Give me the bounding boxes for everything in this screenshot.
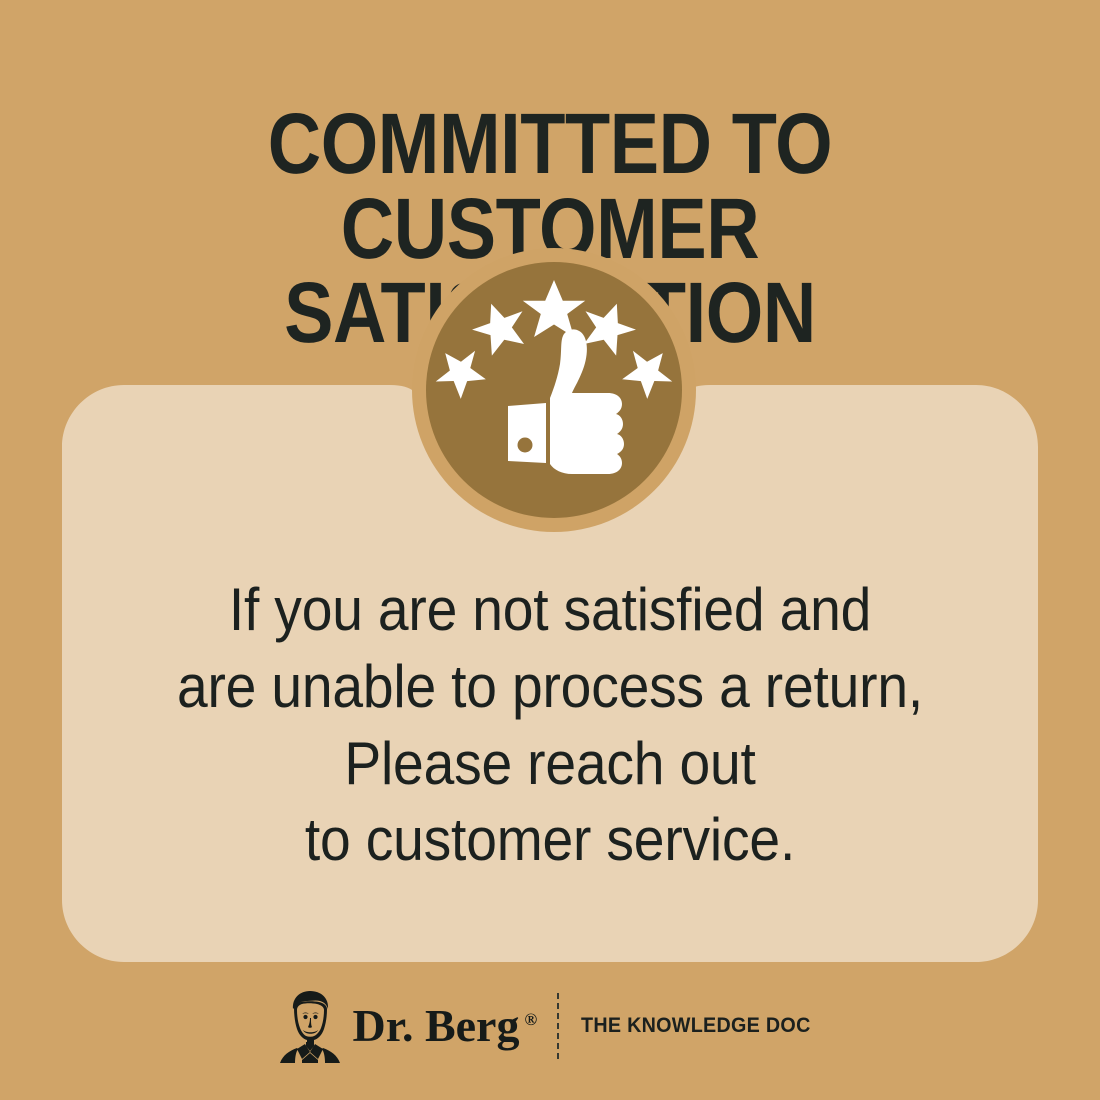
body-line-4: to customer service. [101,802,999,879]
dr-berg-portrait-icon [275,989,345,1063]
satisfaction-badge [412,248,696,532]
promo-poster: COMMITTED TO CUSTOMER SATISFACTION [0,0,1100,1100]
brand-name-text: Dr. Berg [353,1000,520,1051]
brand-name: Dr. Berg® [353,1003,538,1049]
body-line-2: are unable to process a return, [101,649,999,726]
logo-divider [557,993,559,1059]
headline-line-1: COMMITTED TO [77,102,1023,186]
body-line-1: If you are not satisfied and [101,572,999,649]
body-line-3: Please reach out [101,726,999,803]
brand-logo-lockup: Dr. Berg® THE KNOWLEDGE DOC [0,986,1100,1066]
brand-tagline: THE KNOWLEDGE DOC [581,1014,811,1038]
registered-trademark-icon: ® [524,1010,537,1029]
body-message: If you are not satisfied and are unable … [101,572,999,879]
